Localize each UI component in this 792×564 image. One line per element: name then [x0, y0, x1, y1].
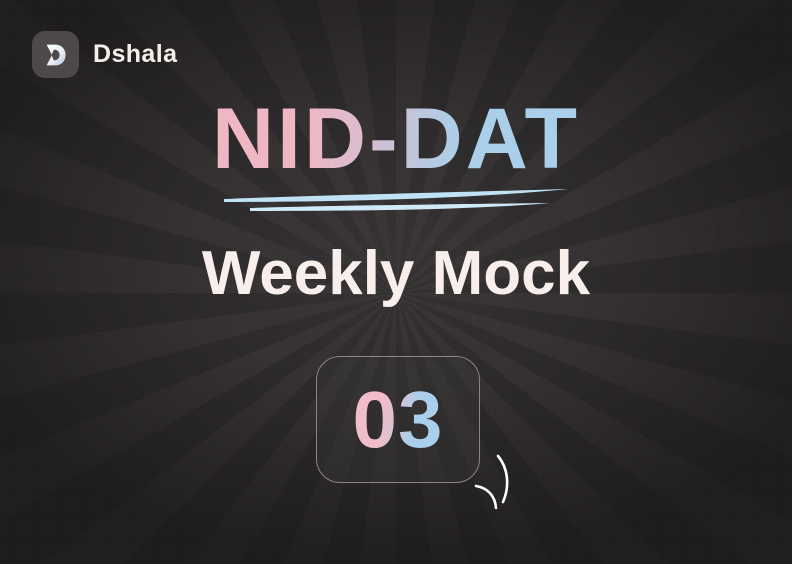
dshala-d-logo-icon [32, 31, 79, 78]
page-subtitle: Weekly Mock [0, 243, 792, 305]
poster-content: Dshala NID-DAT Weekly Mock 03 [0, 0, 792, 564]
brush-underline-swoosh [218, 188, 574, 214]
brand-name: Dshala [93, 42, 177, 67]
brand-lockup: Dshala [32, 31, 177, 78]
headline-block: NID-DAT [0, 96, 792, 182]
poster-canvas: Dshala NID-DAT Weekly Mock 03 [0, 0, 792, 564]
week-number-badge: 03 [316, 356, 480, 483]
week-number-value: 03 [353, 380, 444, 460]
page-title: NID-DAT [212, 96, 580, 182]
